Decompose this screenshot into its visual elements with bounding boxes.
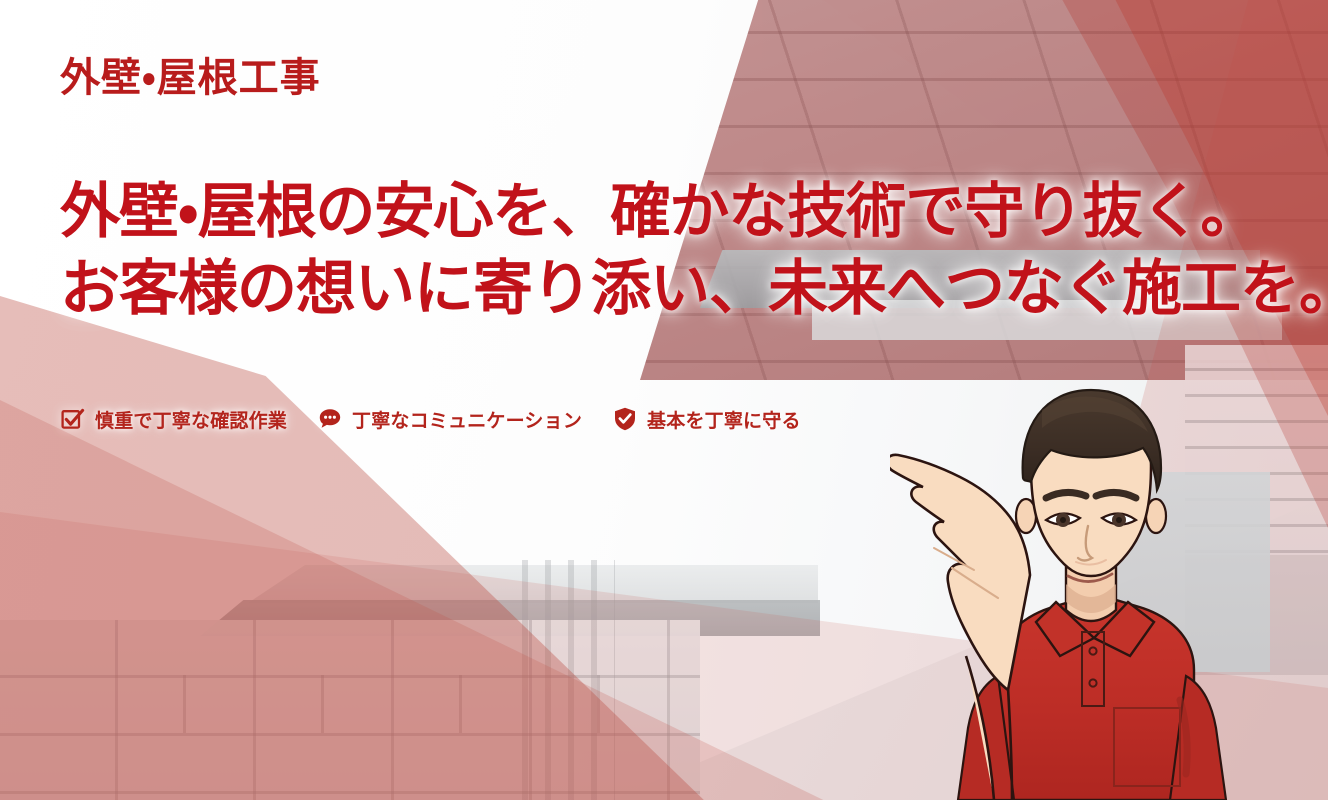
staff-illustration-svg: [890, 370, 1290, 800]
feature-badge-communication: 丁寧なコミュニケーション: [317, 406, 582, 433]
staff-illustration: [890, 370, 1290, 800]
checkbox-check-icon: [60, 406, 86, 432]
hero-headline-line-1: 外壁・屋根の安心を、確かな技術で守り抜く。: [60, 174, 1300, 251]
hero-banner: 外壁・屋根工事 外壁・屋根の安心を、確かな技術で守り抜く。 お客様の想いに寄り添…: [0, 0, 1328, 800]
feature-label-fundamentals: 基本を丁寧に守る: [647, 406, 801, 433]
hero-headline: 外壁・屋根の安心を、確かな技術で守り抜く。 お客様の想いに寄り添い、未来へつなぐ…: [60, 174, 1300, 328]
hero-content: 外壁・屋根工事 外壁・屋根の安心を、確かな技術で守り抜く。 お客様の想いに寄り添…: [60, 58, 1300, 433]
hero-eyebrow: 外壁・屋根工事: [60, 58, 1300, 98]
polo-shirt-body: [998, 600, 1194, 800]
feature-badge-row: 慎重で丁寧な確認作業 丁寧なコミュニケーション 基本を丁寧に守る: [60, 406, 1300, 433]
feature-badge-fundamentals: 基本を丁寧に守る: [612, 406, 801, 433]
shield-check-icon: [612, 406, 638, 432]
chat-bubble-icon: [317, 406, 343, 432]
feature-badge-careful-inspection: 慎重で丁寧な確認作業: [60, 406, 287, 433]
hero-headline-line-2: お客様の想いに寄り添い、未来へつなぐ施工を。: [60, 251, 1300, 328]
feature-label-careful-inspection: 慎重で丁寧な確認作業: [95, 406, 287, 433]
feature-label-communication: 丁寧なコミュニケーション: [352, 406, 582, 433]
